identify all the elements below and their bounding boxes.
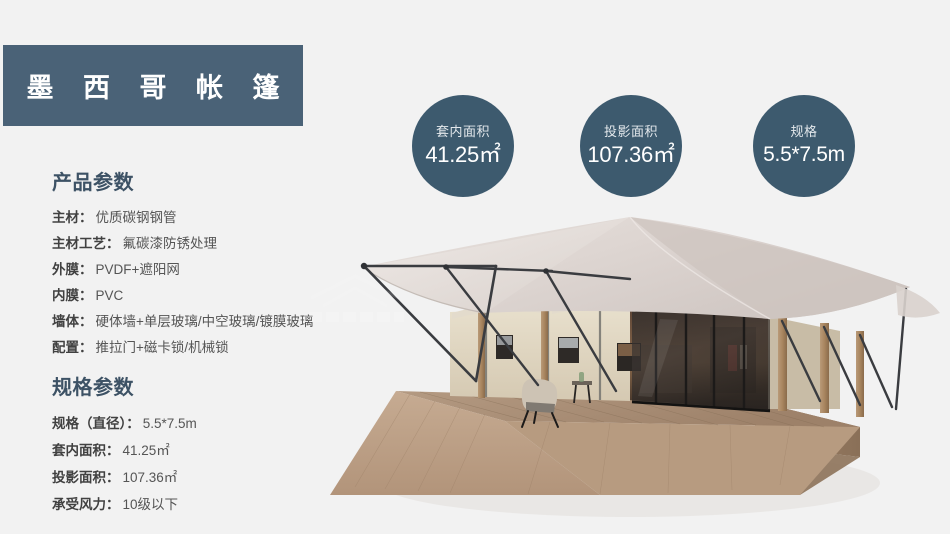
param-row: 内膜： PVC [52, 283, 313, 309]
param-row: 配置： 推拉门+磁卡锁/机械锁 [52, 335, 313, 361]
param-row: 墙体： 硬体墙+单层玻璃/中空玻璃/镀膜玻璃 [52, 309, 313, 335]
tent-render-image [300, 195, 950, 534]
page-title: 墨 西 哥 帐 篷 [15, 66, 290, 105]
param-value: 5.5*7.5m [140, 410, 197, 437]
badge-value: 5.5*7.5m [763, 141, 845, 168]
param-value: 41.25㎡ [120, 437, 170, 464]
badge-interior-area: 套内面积 41.25㎡ [412, 95, 514, 197]
param-row: 投影面积： 107.36㎡ [52, 464, 197, 491]
param-label: 内膜： [52, 283, 93, 309]
specification-parameters-section: 规格参数 规格（直径）： 5.5*7.5m 套内面积： 41.25㎡ 投影面积：… [52, 371, 197, 518]
badge-label: 规格 [790, 124, 817, 140]
badge-label: 套内面积 [436, 124, 490, 140]
param-row: 主材： 优质碳钢钢管 [52, 205, 313, 231]
product-parameters-section: 产品参数 主材： 优质碳钢钢管 主材工艺： 氟碳漆防锈处理 外膜： PVDF+遮… [52, 166, 313, 361]
param-value: 10级以下 [120, 491, 179, 518]
param-row: 承受风力： 10级以下 [52, 491, 197, 518]
param-label: 配置： [52, 335, 93, 361]
param-label: 规格（直径）： [52, 410, 140, 437]
slide-canvas: 墨 西 哥 帐 篷 产品参数 主材： 优质碳钢钢管 主材工艺： 氟碳漆防锈处理 … [0, 0, 950, 534]
watermark-logo [293, 268, 423, 330]
param-value: PVC [93, 283, 124, 309]
badge-value: 107.36㎡ [587, 141, 674, 168]
section-heading-specs: 规格参数 [52, 371, 197, 400]
badge-projected-area: 投影面积 107.36㎡ [580, 95, 682, 197]
param-label: 承受风力： [52, 491, 120, 518]
param-row: 主材工艺： 氟碳漆防锈处理 [52, 231, 313, 257]
param-row: 外膜： PVDF+遮阳网 [52, 257, 313, 283]
param-row: 规格（直径）： 5.5*7.5m [52, 410, 197, 437]
title-banner: 墨 西 哥 帐 篷 [3, 45, 303, 126]
param-label: 套内面积： [52, 437, 120, 464]
param-value: 优质碳钢钢管 [93, 205, 177, 231]
param-value: 推拉门+磁卡锁/机械锁 [93, 335, 229, 361]
param-label: 主材： [52, 205, 93, 231]
param-label: 主材工艺： [52, 231, 120, 257]
section-heading-products: 产品参数 [52, 166, 313, 195]
param-row: 套内面积： 41.25㎡ [52, 437, 197, 464]
param-value: 硬体墙+单层玻璃/中空玻璃/镀膜玻璃 [93, 309, 314, 335]
param-value: 氟碳漆防锈处理 [120, 231, 218, 257]
param-label: 投影面积： [52, 464, 120, 491]
badge-value: 41.25㎡ [425, 141, 500, 168]
param-label: 外膜： [52, 257, 93, 283]
badge-dimensions: 规格 5.5*7.5m [753, 95, 855, 197]
param-value: PVDF+遮阳网 [93, 257, 180, 283]
param-label: 墙体： [52, 309, 93, 335]
param-value: 107.36㎡ [120, 464, 178, 491]
badge-label: 投影面积 [604, 124, 658, 140]
